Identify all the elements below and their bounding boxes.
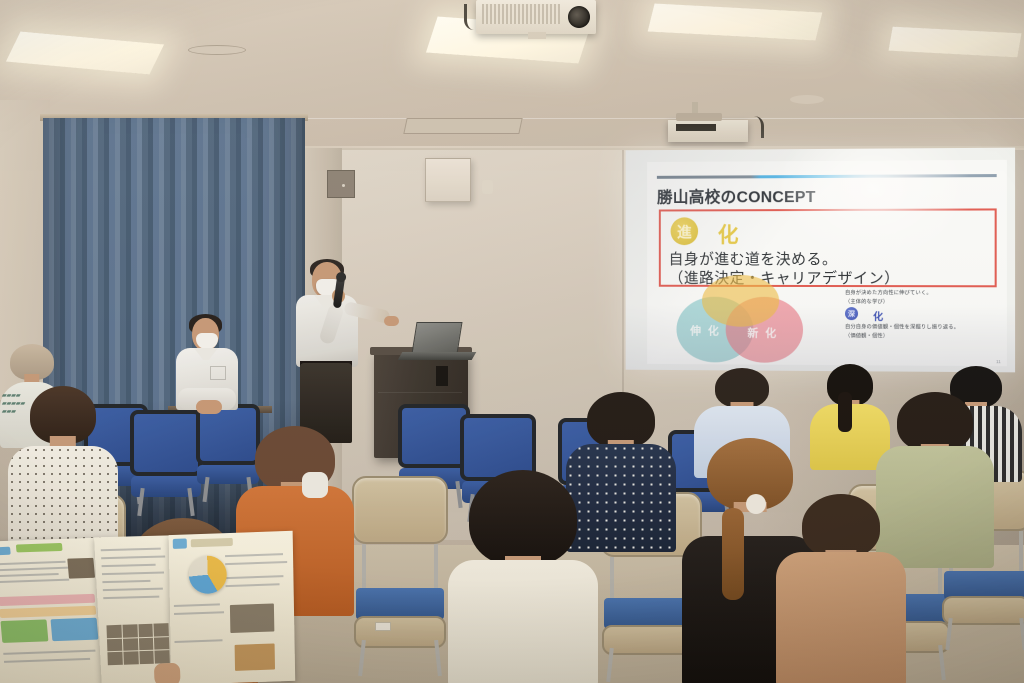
brochure-text-line <box>175 639 223 643</box>
slide-note-4: （価値観・個性） <box>845 332 888 340</box>
brochure-text-line <box>102 564 156 567</box>
chair-rail <box>362 544 366 592</box>
deep-badge-kanji: 深 <box>845 307 858 320</box>
brochure-text-line <box>103 588 163 592</box>
brochure-header-band <box>191 538 233 547</box>
brochure-photo <box>154 623 169 636</box>
presenter-right-hand <box>384 316 399 326</box>
brochure-text-line <box>174 611 224 615</box>
venn-diagram: 伸 化 新 化 <box>675 279 823 359</box>
brochure-text-line <box>101 556 165 560</box>
slide-page-number: 11 <box>996 359 1001 364</box>
projector-mount <box>528 32 546 39</box>
slide-accent-bar <box>657 174 997 179</box>
projector-cable <box>744 116 764 138</box>
audience-woman-beige-right <box>776 494 906 683</box>
brochure-color-block <box>0 619 48 643</box>
person-hair <box>897 392 973 452</box>
concept-line-1: 自身が進む道を決める。 <box>669 248 838 269</box>
projector-cable <box>464 4 480 30</box>
chair-rail <box>1019 531 1023 574</box>
brochure-text-line <box>0 573 59 577</box>
wall-speaker-box <box>425 158 471 202</box>
slide-note-3: 自分自身の価値観・個性を深掘りし振り返る。 <box>845 323 959 332</box>
brochure-text-line <box>225 561 287 565</box>
ceiling-projector-rear <box>668 120 748 142</box>
slide-concept-box: 進 化 自身が進む道を決める。 （進路決定・キャリアデザイン） <box>659 208 997 287</box>
brochure-text-line <box>102 572 164 576</box>
smoke-detector-icon <box>790 95 824 104</box>
brochure-photo <box>138 637 153 650</box>
laptop-keyboard <box>398 352 477 360</box>
brochure-text-line <box>101 548 161 552</box>
deep-headline-kanji: 化 <box>873 308 883 323</box>
brochure-photo <box>154 637 169 650</box>
laptop-screen <box>411 322 462 354</box>
projection-screen: 勝山高校のCONCEPT 進 化 自身が進む道を決める。 （進路決定・キャリアデ… <box>626 148 1015 373</box>
person-hair <box>469 470 577 566</box>
brochure-color-block <box>50 618 98 642</box>
brochure-text-line <box>226 583 280 587</box>
holding-hand <box>154 663 181 683</box>
hair-scrunchie <box>746 494 766 514</box>
brochure-photo <box>122 624 137 637</box>
brochure-photo <box>67 558 95 579</box>
brochure-photo <box>138 624 153 637</box>
venn-label-left: 伸 化 <box>690 322 721 338</box>
brochure-photo-grid <box>106 623 169 665</box>
brochure-photo <box>107 638 122 651</box>
brochure-photo <box>139 651 154 664</box>
staff-shirt-pocket <box>210 366 226 380</box>
tshirt-graphic: ▰▰▰▰▰▰▰▰▰▰▰▰ <box>2 392 48 420</box>
folding-chair <box>352 476 448 676</box>
concept-badge-kanji: 進 <box>671 217 698 245</box>
ponytail <box>838 392 852 432</box>
chair-asset-tag <box>375 622 391 631</box>
ceiling-vent-2 <box>403 118 522 134</box>
venn-circle-top <box>702 275 779 327</box>
staff-hands <box>196 400 222 414</box>
laptop <box>404 322 474 360</box>
slide-content: 勝山高校のCONCEPT 進 化 自身が進む道を決める。 （進路決定・キャリアデ… <box>647 160 1007 366</box>
brochure-text-line <box>3 650 95 655</box>
venn-label-right: 新 化 <box>747 325 778 341</box>
projector-lens-icon <box>568 6 590 28</box>
brochure-text-line <box>225 553 283 557</box>
brochure-photo <box>235 643 275 670</box>
brochure-photo <box>106 625 121 638</box>
brochure-text-line <box>0 579 69 584</box>
brochure-text-line <box>103 596 159 599</box>
slide-note-1: 自身が決めた方向性に伸びていく。 <box>845 289 932 297</box>
brochure-tab <box>0 547 11 556</box>
slide-title: 勝山高校のCONCEPT <box>657 183 816 208</box>
face-mask-icon <box>302 472 328 498</box>
brochure-color-band <box>0 606 96 618</box>
wall-hook-icon <box>482 180 493 194</box>
chair-leg <box>1019 617 1024 650</box>
person-neck <box>50 436 76 446</box>
brochure-text-line <box>0 567 72 572</box>
podium-seam <box>378 392 462 393</box>
person-top <box>448 560 598 683</box>
brochure-header-band <box>16 543 63 553</box>
ponytail <box>722 508 744 600</box>
wall-access-panel <box>327 170 355 198</box>
brochure-text-line <box>0 561 66 565</box>
ceiling-speaker-dome <box>188 45 246 55</box>
chair-back <box>352 476 448 544</box>
brochure-photo <box>107 652 122 665</box>
podium-vent <box>436 366 448 386</box>
person-hair <box>802 494 880 558</box>
brochure-text-line <box>225 575 283 579</box>
chair-rail <box>610 557 614 603</box>
brochure-photo <box>230 603 274 633</box>
seminar-room-photo: 勝山高校のCONCEPT 進 化 自身が進む道を決める。 （進路決定・キャリアデ… <box>0 0 1024 683</box>
school-brochure <box>0 531 297 683</box>
chair-apron <box>354 616 446 648</box>
projector-grill <box>482 4 560 24</box>
brochure-photo <box>155 650 170 663</box>
brochure-text-line <box>174 603 220 607</box>
concept-headline-kanji: 化 <box>718 219 739 249</box>
projector-lens-icon <box>676 124 716 131</box>
ceiling-projector-front <box>476 0 596 34</box>
presenter-with-microphone <box>288 262 384 442</box>
person-top <box>776 552 906 683</box>
projector-top-plate <box>676 113 722 121</box>
brochure-text-line <box>4 658 90 663</box>
brochure-page-right <box>169 531 296 683</box>
brochure-photo <box>123 638 138 651</box>
brochure-photo <box>123 652 138 665</box>
brochure-page-left <box>0 538 109 683</box>
audience-woman-bob-center <box>448 470 598 683</box>
chair-rail <box>434 544 438 592</box>
chair-apron <box>942 596 1024 625</box>
brochure-tab <box>173 538 187 548</box>
brochure-color-band <box>0 594 95 606</box>
brochure-text-line <box>102 580 150 583</box>
slide-note-2: （主体的な学び） <box>845 298 888 306</box>
